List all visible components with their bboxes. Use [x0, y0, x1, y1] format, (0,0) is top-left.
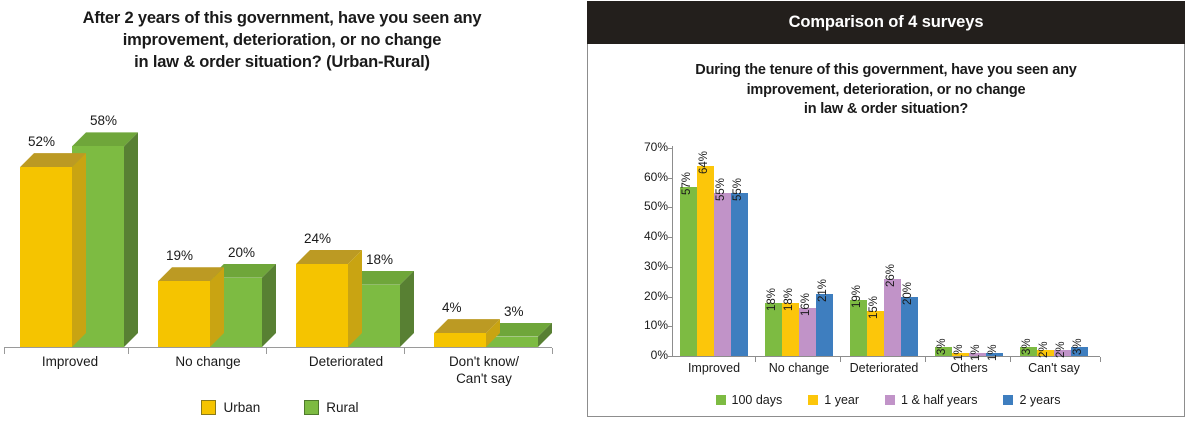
left-bar-urban-3-front-face	[434, 333, 486, 347]
right-y-tick-mark-50	[667, 207, 672, 208]
left-category-label-1-line-0: No change	[138, 354, 278, 371]
left-bar-rural-0-side-face	[124, 132, 138, 347]
right-y-tick-label-0: 0%	[634, 348, 668, 362]
left-category-label-2: Deteriorated	[276, 354, 416, 371]
right-value-label-0-3: 55%	[732, 178, 744, 201]
right-bar-0-1	[697, 166, 714, 356]
right-value-label-4-2: 2%	[1055, 341, 1067, 358]
left-chart-panel: After 2 years of this government, have y…	[0, 0, 572, 427]
right-value-label-4-0: 3%	[1021, 338, 1033, 355]
left-axis-tick-2	[404, 348, 405, 354]
legend-swatch-1-year	[808, 395, 818, 405]
screenshot-root: After 2 years of this government, have y…	[0, 0, 1200, 427]
legend-item-2-years[interactable]: 2 years	[1003, 393, 1060, 407]
legend-label-1-year: 1 year	[824, 393, 859, 407]
left-category-label-1: No change	[138, 354, 278, 371]
legend-label-100-days: 100 days	[732, 393, 783, 407]
left-category-label-0-line-0: Improved	[0, 354, 140, 371]
left-category-label-2-line-0: Deteriorated	[276, 354, 416, 371]
right-value-label-3-2: 1%	[970, 344, 982, 361]
right-value-label-3-3: 1%	[987, 344, 999, 361]
left-bar-rural-1-side-face	[262, 264, 276, 347]
left-title-line-3: in law & order situation? (Urban-Rural)	[8, 52, 556, 74]
right-value-label-2-0: 19%	[851, 285, 863, 308]
legend-item-100-days[interactable]: 100 days	[716, 393, 783, 407]
legend-label-1-and-half-years: 1 & half years	[901, 393, 977, 407]
right-value-label-4-3: 3%	[1072, 338, 1084, 355]
left-bar-urban-2	[296, 250, 362, 347]
left-value-label-urban-2: 24%	[304, 231, 331, 246]
left-bar-urban-3	[434, 319, 500, 347]
left-bar-urban-0	[20, 153, 86, 347]
right-value-label-1-2: 16%	[800, 293, 812, 316]
left-bar-urban-2-front-face	[296, 264, 348, 347]
right-y-tick-label-60: 60%	[634, 170, 668, 184]
left-axis-edge-tick-0	[4, 348, 5, 354]
right-value-label-1-0: 18%	[766, 287, 778, 310]
right-y-tick-label-20: 20%	[634, 289, 668, 303]
right-chart-panel: Comparison of 4 surveys During the tenur…	[587, 2, 1185, 417]
left-title-line-1: After 2 years of this government, have y…	[8, 8, 556, 30]
right-y-tick-mark-10	[667, 326, 672, 327]
left-axis-edge-tick-1	[552, 348, 553, 354]
left-value-label-urban-0: 52%	[28, 134, 55, 149]
left-bar-urban-0-side-face	[72, 153, 86, 347]
left-chart-title: After 2 years of this government, have y…	[8, 8, 556, 73]
legend-label-rural: Rural	[326, 400, 358, 415]
left-axis-tick-0	[128, 348, 129, 354]
right-y-tick-label-50: 50%	[634, 199, 668, 213]
right-y-tick-mark-30	[667, 267, 672, 268]
left-category-label-3-line-1: Can't say	[414, 371, 554, 388]
left-value-label-urban-3: 4%	[442, 300, 462, 315]
left-value-label-rural-0: 58%	[90, 113, 117, 128]
right-y-tick-label-10: 10%	[634, 318, 668, 332]
right-y-tick-mark-60	[667, 178, 672, 179]
left-bar-urban-1	[158, 267, 224, 347]
left-category-label-3: Don't know/Can't say	[414, 354, 554, 388]
legend-swatch-100-days	[716, 395, 726, 405]
left-axis-tick-1	[266, 348, 267, 354]
right-legend: 100 days 1 year 1 & half years 2 years	[648, 393, 1128, 407]
right-bar-0-0	[680, 187, 697, 356]
right-y-tick-label-30: 30%	[634, 259, 668, 273]
left-category-label-3-line-0: Don't know/	[414, 354, 554, 371]
right-value-label-0-1: 64%	[698, 151, 710, 174]
right-y-tick-mark-40	[667, 237, 672, 238]
right-value-label-4-1: 2%	[1038, 341, 1050, 358]
left-x-axis-line	[4, 347, 552, 348]
right-value-label-2-3: 20%	[902, 282, 914, 305]
right-value-label-2-2: 26%	[885, 264, 897, 287]
right-y-tick-label-70: 70%	[634, 140, 668, 154]
right-category-label-4: Can't say	[1004, 361, 1104, 375]
right-value-label-1-3: 21%	[817, 279, 829, 302]
left-value-label-rural-3: 3%	[504, 304, 524, 319]
left-value-label-rural-2: 18%	[366, 252, 393, 267]
right-value-label-1-1: 18%	[783, 287, 795, 310]
legend-swatch-rural	[304, 400, 319, 415]
left-bar-urban-2-side-face	[348, 250, 362, 347]
right-y-axis-line	[672, 146, 673, 357]
right-y-tick-label-40: 40%	[634, 229, 668, 243]
right-axis-end-tick	[1100, 357, 1101, 362]
legend-item-1-year[interactable]: 1 year	[808, 393, 859, 407]
right-y-tick-mark-20	[667, 297, 672, 298]
legend-label-urban: Urban	[223, 400, 260, 415]
right-bar-2-2	[884, 279, 901, 356]
right-value-label-3-1: 1%	[953, 344, 965, 361]
legend-label-2-years: 2 years	[1019, 393, 1060, 407]
legend-swatch-urban	[201, 400, 216, 415]
left-bar-urban-1-side-face	[210, 267, 224, 347]
right-value-label-0-2: 55%	[715, 178, 727, 201]
legend-item-urban[interactable]: Urban	[201, 400, 260, 415]
left-bar-urban-0-front-face	[20, 167, 72, 347]
legend-swatch-1-and-half-years	[885, 395, 895, 405]
right-x-axis-line	[672, 356, 1100, 357]
left-value-label-rural-1: 20%	[228, 245, 255, 260]
right-y-tick-mark-0	[667, 356, 672, 357]
right-bar-2-3	[901, 297, 918, 356]
left-title-line-2: improvement, deterioration, or no change	[8, 30, 556, 52]
left-bar-urban-1-front-face	[158, 281, 210, 347]
legend-item-1-and-half-years[interactable]: 1 & half years	[885, 393, 977, 407]
right-value-label-2-1: 15%	[868, 296, 880, 319]
right-bar-1-3	[816, 294, 833, 356]
right-plot-area: 0%10%20%30%40%50%60%70%57%64%55%55%Impro…	[588, 3, 1186, 418]
left-category-label-0: Improved	[0, 354, 140, 371]
right-bar-0-3	[731, 193, 748, 356]
right-y-tick-mark-70	[667, 148, 672, 149]
legend-item-rural[interactable]: Rural	[304, 400, 358, 415]
legend-swatch-2-years	[1003, 395, 1013, 405]
left-value-label-urban-1: 19%	[166, 248, 193, 263]
right-bar-0-2	[714, 193, 731, 356]
right-value-label-3-0: 3%	[936, 338, 948, 355]
left-legend: Urban Rural	[0, 400, 560, 415]
right-value-label-0-0: 57%	[681, 172, 693, 195]
